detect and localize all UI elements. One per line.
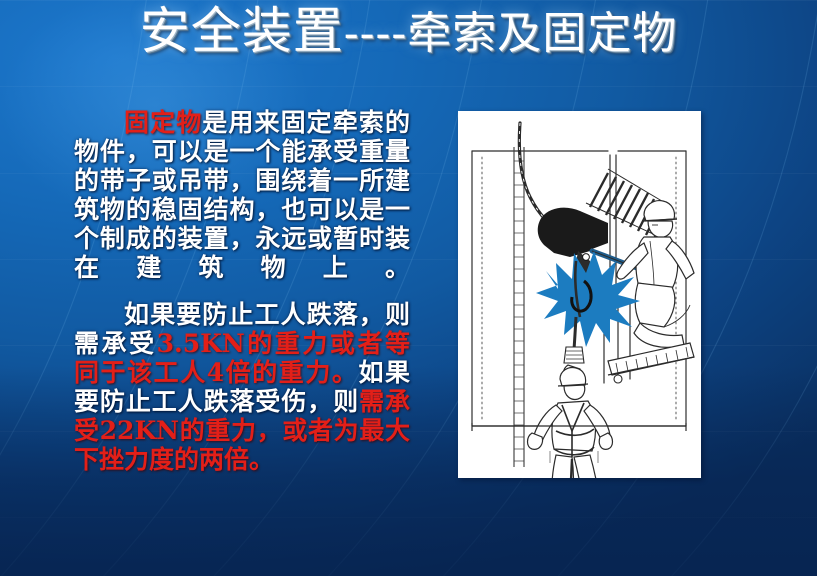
- title-subject: 牵索及固定物: [407, 8, 677, 59]
- body-text-block: 固定物是用来固定牵索的物件，可以是一个能承受重量的带子或吊带，围绕着一所建筑物的…: [74, 108, 410, 474]
- safety-harness-illustration: [458, 111, 701, 478]
- illustration-panel: [458, 111, 701, 478]
- slide-canvas: 安全装置----牵索及固定物 固定物是用来固定牵索的物件，可以是一个能承受重量的…: [0, 0, 817, 576]
- slide-title: 安全装置----牵索及固定物: [0, 6, 817, 56]
- title-main: 安全装置: [140, 2, 344, 60]
- paragraph-1-highlight: 固定物: [124, 108, 202, 137]
- paragraph-1: 固定物是用来固定牵索的物件，可以是一个能承受重量的带子或吊带，围绕着一所建筑物的…: [74, 108, 410, 282]
- title-separator: ----: [344, 8, 407, 59]
- paragraph-2: 如果要防止工人跌落，则需承受3.5KN的重力或者等同于该工人4倍的重力。如果要防…: [74, 300, 410, 474]
